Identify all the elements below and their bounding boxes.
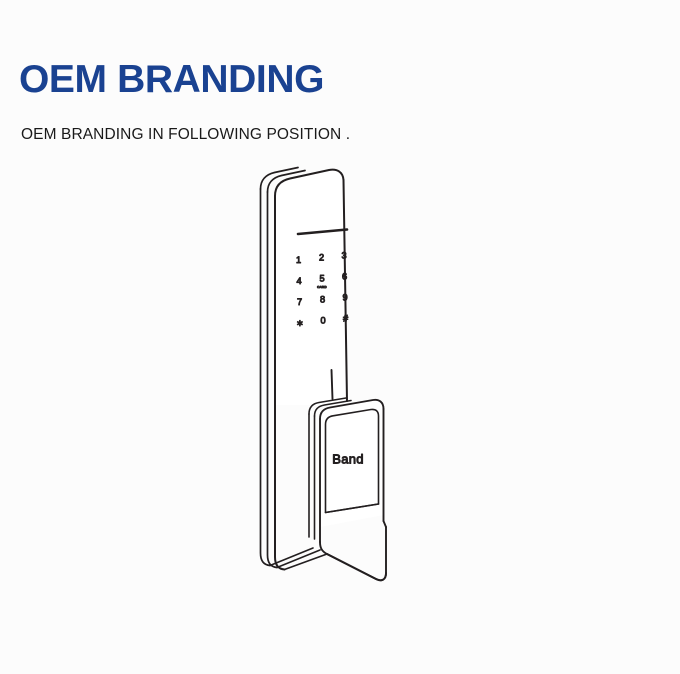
keypad-key-6[interactable]: 6 [342,272,347,282]
document-page: OEM BRANDING OEM BRANDING IN FOLLOWING P… [0,0,680,674]
page-subtitle: OEM BRANDING IN FOLLOWING POSITION . [21,126,350,144]
keypad-card-label: CARD [317,285,327,289]
keypad-key-hash[interactable]: # [343,314,349,324]
keypad-key-5[interactable]: 5 [319,274,324,284]
keypad-key-4[interactable]: 4 [296,276,301,286]
keypad-key-2[interactable]: 2 [319,253,324,263]
keypad-key-8[interactable]: 8 [320,295,325,305]
handle-brand-label: Band [332,451,364,466]
product-illustration: 1 2 3 4 5 6 CARD 7 8 9 ∗ 0 # [236,155,416,615]
keypad-key-7[interactable]: 7 [297,297,302,307]
keypad-key-1[interactable]: 1 [296,255,301,265]
keypad-key-0[interactable]: 0 [320,316,325,326]
page-title: OEM BRANDING [19,59,324,102]
smart-lock-drawing: 1 2 3 4 5 6 CARD 7 8 9 ∗ 0 # [236,155,416,615]
keypad-key-3[interactable]: 3 [341,251,346,261]
keypad-key-9[interactable]: 9 [342,293,347,303]
keypad-key-star[interactable]: ∗ [296,318,304,328]
